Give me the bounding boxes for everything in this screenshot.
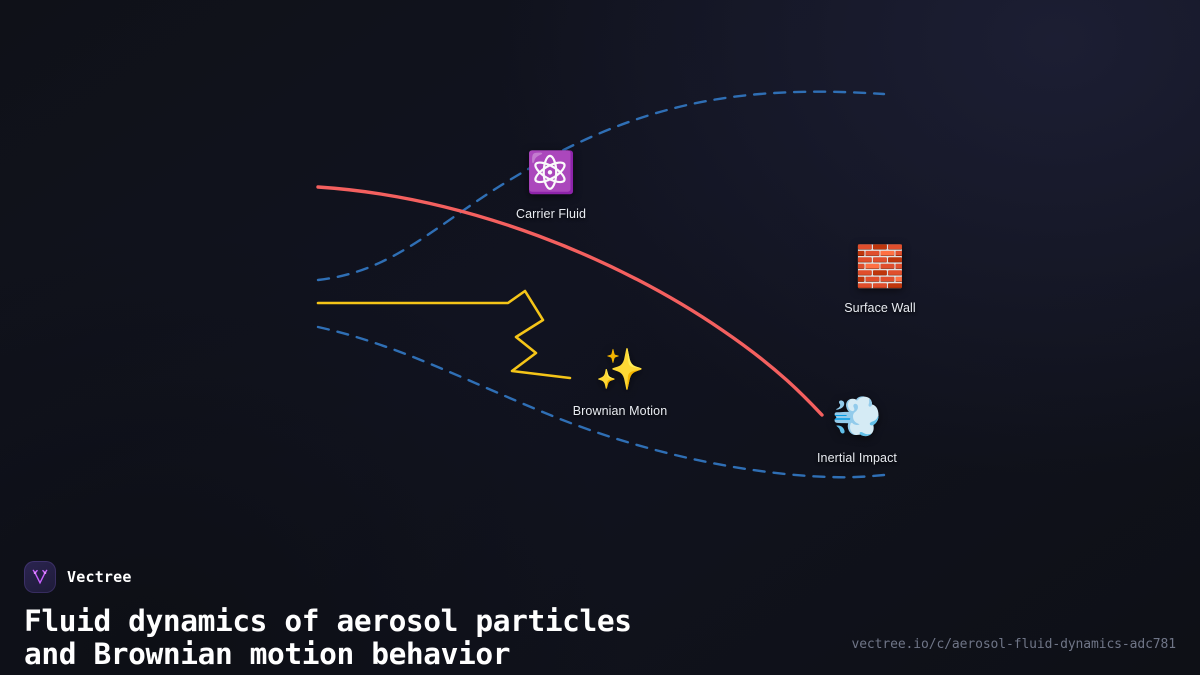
brand-name: Vectree	[67, 568, 132, 586]
share-url: vectree.io/c/aerosol-fluid-dynamics-adc7…	[851, 637, 1176, 652]
node-label-carrier-fluid: Carrier Fluid	[516, 207, 586, 221]
yellow-zigzag-path	[318, 291, 570, 378]
node-inertial-impact[interactable]: 💨 Inertial Impact	[777, 392, 937, 465]
vectree-branch-logo-icon	[24, 561, 56, 593]
node-surface-wall[interactable]: 🧱 Surface Wall	[800, 242, 960, 315]
logo-glyph	[30, 567, 50, 587]
atom-emoji: ⚛️	[526, 148, 576, 198]
brand[interactable]: Vectree	[24, 561, 132, 593]
dashing-away-emoji: 💨	[832, 392, 882, 442]
node-label-brownian-motion: Brownian Motion	[573, 404, 668, 418]
node-brownian-motion[interactable]: ✨ Brownian Motion	[540, 345, 700, 418]
sparkles-emoji: ✨	[595, 345, 645, 395]
footer-bar: Vectree Fluid dynamics of aerosol partic…	[0, 545, 1200, 675]
diagram-canvas: ⚛️ Carrier Fluid 🧱 Surface Wall ✨ Browni…	[0, 0, 1200, 675]
brick-emoji: 🧱	[855, 242, 905, 292]
page-title: Fluid dynamics of aerosol particles and …	[24, 605, 632, 671]
node-label-inertial-impact: Inertial Impact	[817, 451, 897, 465]
node-carrier-fluid[interactable]: ⚛️ Carrier Fluid	[471, 148, 631, 221]
node-label-surface-wall: Surface Wall	[844, 301, 916, 315]
